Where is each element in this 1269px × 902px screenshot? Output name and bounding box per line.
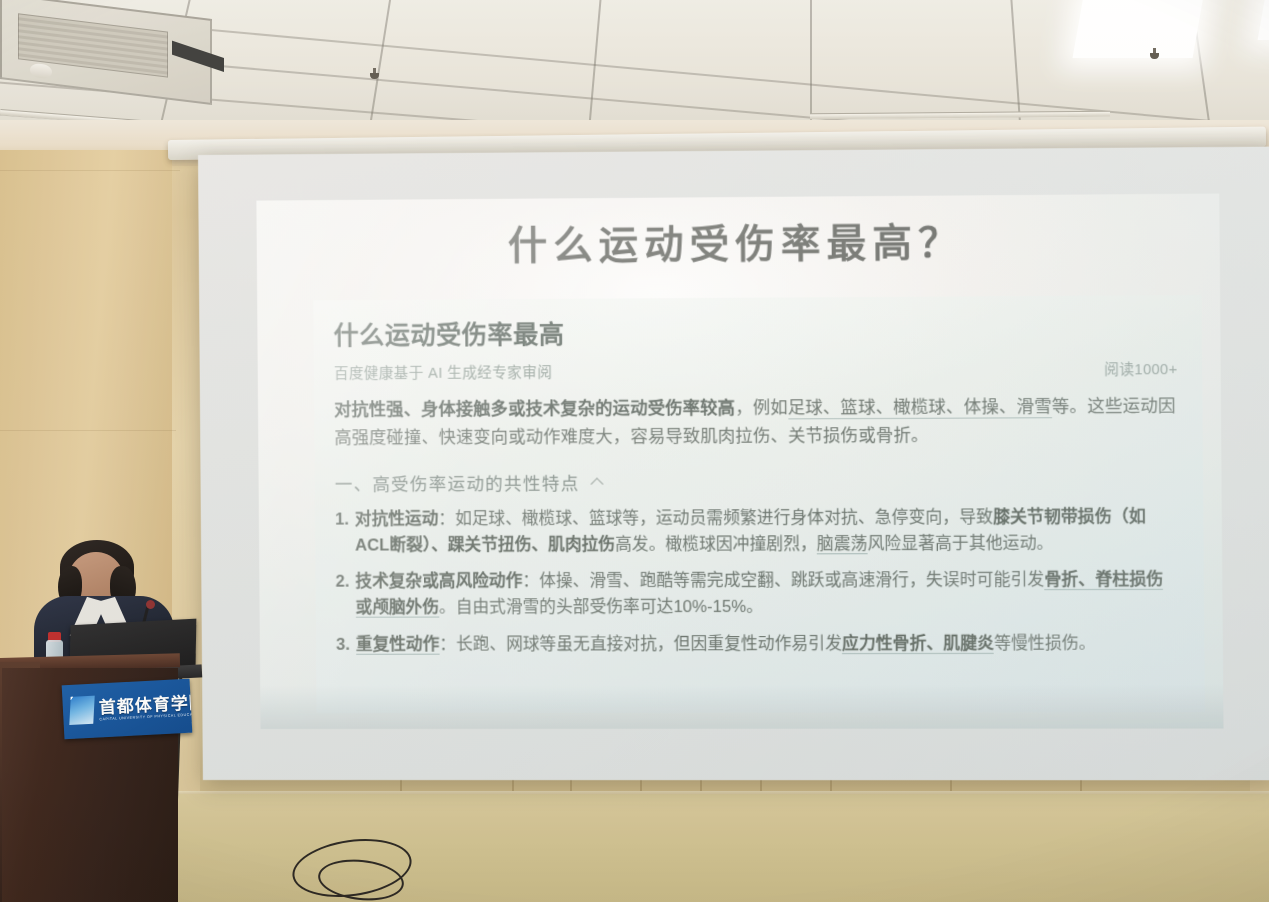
projection-screen: 什么运动受伤率最高？ 什么运动受伤率最高 百度健康基于 AI 生成经专家审阅 阅… [198,147,1269,781]
list-item-text-a: 体操、滑雪、跑酷等需完成空翻、跳跃或高速滑行，失误时可能引发 [539,570,1044,590]
microphone-icon [146,600,155,609]
projected-slide-surface: 什么运动受伤率最高？ 什么运动受伤率最高 百度健康基于 AI 生成经专家审阅 阅… [256,194,1223,729]
list-item-injury-terms: 应力性骨折、肌腱炎 [842,634,994,654]
list-item-number: 3. [336,632,350,658]
list-item: 1. 对抗性运动：如足球、橄榄球、篮球等，运动员需频繁进行身体对抗、急停变向，导… [335,503,1179,558]
sprinkler-icon [370,68,379,80]
ceiling-light-panel [1073,0,1204,58]
list-item-text-c: 等慢性损伤。 [994,634,1096,653]
lead-bold-part: 对抗性强、身体接触多或技术复杂的运动受伤率较高 [334,397,735,419]
lecture-hall-photo: 什么运动受伤率最高？ 什么运动受伤率最高 百度健康基于 AI 生成经专家审阅 阅… [0,0,1269,902]
article-heading: 什么运动受伤率最高 [333,311,1177,352]
list-item-number: 1. [335,506,349,558]
list-item-body: 对抗性运动：如足球、橄榄球、篮球等，运动员需频繁进行身体对抗、急停变向，导致膝关… [355,503,1179,558]
list-item-term: 重复性动作 [356,635,440,655]
list-item-text-e: 。 [746,597,763,616]
read-count-badge: 阅读1000+ [1104,358,1178,380]
sprinkler-icon [1150,48,1159,60]
lead-connector: ，例如 [735,397,788,417]
list-item-text-a: 长跑、网球等虽无直接对抗，但因重复性动作易引发 [456,634,842,654]
chevron-up-icon[interactable] [591,476,603,488]
list-item-body: 重复性动作：长跑、网球等虽无直接对抗，但因重复性动作易引发应力性骨折、肌腱炎等慢… [356,631,1180,658]
list-item: 3. 重复性动作：长跑、网球等虽无直接对抗，但因重复性动作易引发应力性骨折、肌腱… [336,631,1180,658]
feature-list: 1. 对抗性运动：如足球、橄榄球、篮球等，运动员需频繁进行身体对抗、急停变向，导… [335,503,1180,657]
list-item-number: 2. [335,569,349,621]
section-heading-label: 一、高受伤率运动的共性特点 [335,470,580,496]
list-item-term: 技术复杂或高风险动作 [355,572,522,591]
list-item-colon: ： [438,509,455,528]
article-meta-row: 百度健康基于 AI 生成经专家审阅 阅读1000+ [334,358,1178,383]
article-source-note: 百度健康基于 AI 生成经专家审阅 [334,361,553,383]
list-item-colon: ： [522,572,539,591]
list-item-text-e: 风险显著高于其他运动。 [867,533,1053,553]
list-item-colon: ： [439,635,456,654]
slide-title: 什么运动受伤率最高？ [257,210,1220,273]
list-item-body: 技术复杂或高风险动作：体操、滑雪、跑酷等需完成空翻、跳跃或高速滑行，失误时可能引… [355,567,1179,621]
article-lead-paragraph: 对抗性强、身体接触多或技术复杂的运动受伤率较高，例如足球、篮球、橄榄球、体操、滑… [334,392,1178,452]
ceiling-light-panel [1258,0,1269,40]
air-conditioner-vent [0,0,212,105]
list-item-term: 对抗性运动 [355,509,439,528]
slide-content: 什么运动受伤率最高？ 什么运动受伤率最高 百度健康基于 AI 生成经专家审阅 阅… [256,194,1223,729]
list-item-text-a: 如足球、橄榄球、篮球等，运动员需频繁进行身体对抗、急停变向，导致 [455,507,993,528]
lead-sports-list: 足球、篮球、橄榄球、体操、滑雪 [788,396,1052,419]
section-heading-row[interactable]: 一、高受伤率运动的共性特点 [335,468,1179,496]
podium-area: 首都体育学院 CAPITAL UNIVERSITY OF PHYSICAL ED… [0,540,215,902]
podium-banner: 首都体育学院 CAPITAL UNIVERSITY OF PHYSICAL ED… [62,679,193,740]
list-item-text-c: 。自由式滑雪的头部受伤率可达 [439,597,674,617]
list-item-text-c: 高发。橄榄球因冲撞剧烈， [615,534,817,554]
list-item: 2. 技术复杂或高风险动作：体操、滑雪、跑酷等需完成空翻、跳跃或高速滑行，失误时… [335,567,1179,621]
list-item-concussion-term: 脑震荡 [817,534,868,554]
list-item-injury-rate: 10%-15% [673,597,746,616]
university-emblem-icon [69,696,94,725]
article-card: 什么运动受伤率最高 百度健康基于 AI 生成经专家审阅 阅读1000+ 对抗性强… [313,295,1205,713]
